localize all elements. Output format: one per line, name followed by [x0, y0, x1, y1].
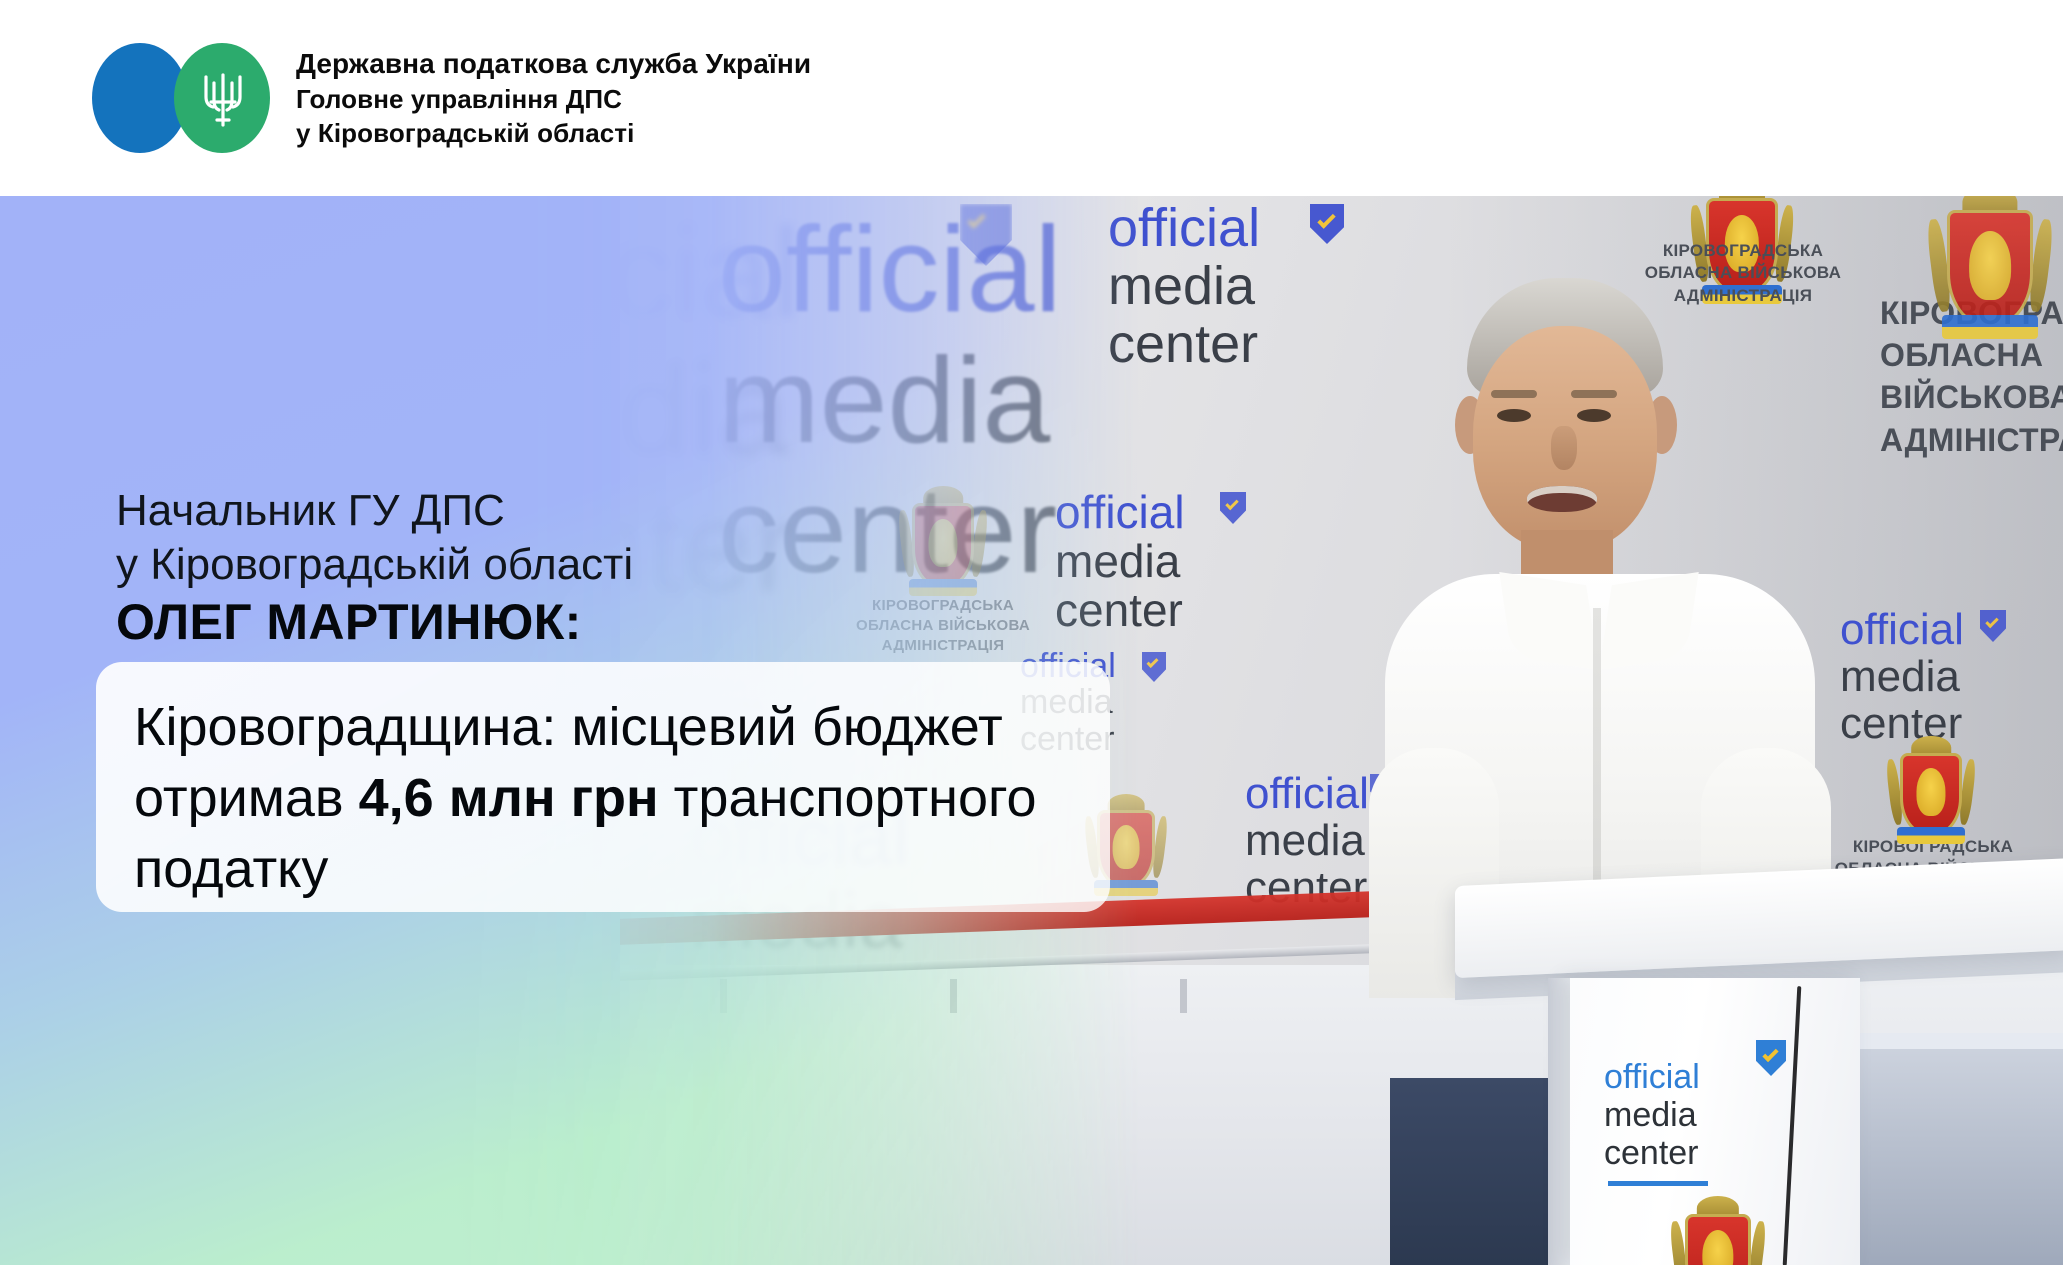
- kirovohrad-coat-of-arms: [1888, 736, 1974, 842]
- backdrop-logo-line-1: official: [1245, 770, 1369, 817]
- headline-highlight: 4,6 млн грн: [359, 768, 659, 828]
- headline-card: Кіровоградщина: місцевий бюджет отримав …: [96, 662, 1110, 912]
- speaker-brow-right: [1571, 390, 1617, 398]
- speaker-eye-left: [1497, 409, 1531, 422]
- backdrop-logo-line-1: official: [1840, 606, 1964, 653]
- podium-logo-line-2: media: [1604, 1096, 1824, 1134]
- speaker-role-line-1: Начальник ГУ ДПС: [116, 484, 1016, 538]
- podium-coat-of-arms: [1672, 1196, 1764, 1265]
- podium-column-edge: [1548, 978, 1572, 1265]
- side-desk: [1833, 1033, 2063, 1265]
- podium-logo-line-3: center: [1604, 1134, 1824, 1172]
- brand-header: Державна податкова служба України Головн…: [0, 0, 2063, 196]
- rail-post: [1180, 979, 1187, 1013]
- brand-line-3: у Кіровоградській області: [296, 116, 811, 150]
- headline-text: Кіровоградщина: місцевий бюджет отримав …: [134, 692, 1072, 905]
- backdrop-logo-row4: official media center: [1245, 770, 1369, 911]
- text-overlay: Начальник ГУ ДПС у Кіровоградській облас…: [0, 196, 1140, 1265]
- dps-logo: [92, 43, 278, 153]
- speaker-mouth: [1527, 486, 1597, 512]
- brand-text-block: Державна податкова служба України Головн…: [296, 46, 811, 150]
- speaker-nose: [1551, 426, 1577, 470]
- backdrop-logo-row3-right: official media center: [1840, 606, 1964, 747]
- speaker-role: Начальник ГУ ДПС у Кіровоградській облас…: [116, 484, 1016, 592]
- speaker-brow-left: [1491, 390, 1537, 398]
- podium-logo-underline: [1608, 1181, 1708, 1186]
- brand-line-1: Державна податкова служба України: [296, 46, 811, 82]
- emblem-line-2: ОБЛАСНА ВІЙСЬКОВА: [1880, 334, 2063, 418]
- podium-media-center-logo: official media center: [1604, 1058, 1824, 1172]
- emblem-line-3: АДМІНІСТРАЦІЯ: [1880, 419, 2063, 461]
- backdrop-logo-line-2: media: [1840, 653, 1964, 700]
- emblem-line-1: КІРОВОГРАДСЬКА: [1632, 240, 1854, 262]
- speaker-name: ОЛЕГ МАРТИНЮК:: [116, 592, 1016, 652]
- brand-line-2: Головне управління ДПС: [296, 82, 811, 116]
- trident-icon: [202, 71, 244, 129]
- speaker-role-line-2: у Кіровоградській області: [116, 538, 1016, 592]
- speaker-eye-right: [1577, 409, 1611, 422]
- backdrop-logo-line-2: media: [1245, 817, 1369, 864]
- kirovohrad-coat-of-arms: [1930, 196, 2050, 336]
- podium-logo-line-1: official: [1604, 1058, 1824, 1096]
